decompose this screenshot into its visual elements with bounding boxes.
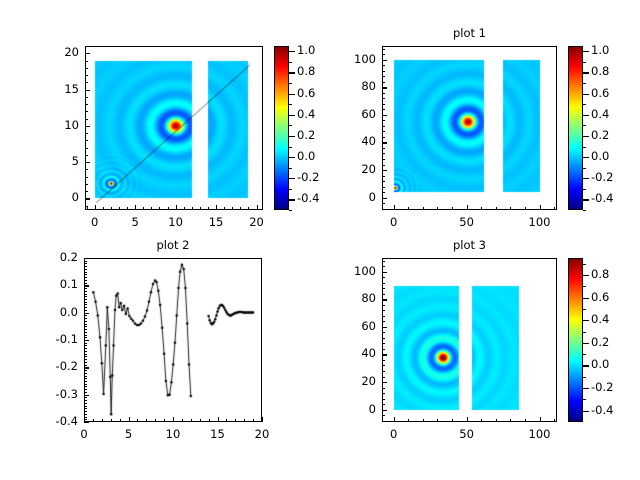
- y-minor-tick: [84, 384, 87, 385]
- colorbar-tick-label: 1.0: [591, 43, 609, 57]
- x-minor-tick: [510, 419, 511, 422]
- y-minor-tick: [84, 351, 87, 352]
- y-minor-tick: [382, 310, 385, 311]
- x-minor-tick: [182, 419, 183, 422]
- plot-title-top-right: plot 1: [382, 26, 557, 40]
- x-minor-tick: [235, 419, 236, 422]
- y-minor-tick: [85, 61, 88, 62]
- y-major-tick: [382, 272, 387, 273]
- y-minor-tick: [84, 406, 87, 407]
- colorbar-minor-tick: [289, 83, 292, 84]
- colorbar-tick: [583, 115, 589, 116]
- y-major-tick: [382, 327, 387, 328]
- y-minor-tick: [382, 109, 385, 110]
- colorbar-tick: [289, 157, 295, 158]
- colorbar-minor-tick: [583, 264, 586, 265]
- x-minor-tick: [452, 207, 453, 210]
- colorbar-tick-label: -0.4: [591, 191, 613, 205]
- colorbar-tick-label: 0.8: [591, 64, 609, 78]
- y-minor-tick: [382, 54, 385, 55]
- y-minor-tick: [85, 97, 88, 98]
- colorbar-frame-top-left: [274, 46, 289, 210]
- colorbar-minor-tick: [583, 309, 586, 310]
- x-minor-tick: [240, 207, 241, 210]
- y-tick-label: -0.4: [36, 414, 78, 428]
- y-minor-tick: [84, 389, 87, 390]
- y-tick-label: 15: [37, 82, 79, 96]
- x-minor-tick: [510, 207, 511, 210]
- y-minor-tick: [382, 343, 385, 344]
- colorbar-minor-tick: [583, 125, 586, 126]
- colorbar-tick: [583, 411, 589, 412]
- x-minor-tick: [155, 419, 156, 422]
- y-minor-tick: [84, 294, 87, 295]
- y-minor-tick: [382, 148, 385, 149]
- x-major-tick: [95, 205, 96, 210]
- y-major-tick: [382, 115, 387, 116]
- x-tick-label: 100: [518, 427, 562, 441]
- y-minor-tick: [85, 82, 88, 83]
- colorbar-tick-label: -0.4: [591, 403, 613, 417]
- y-minor-tick: [84, 373, 87, 374]
- y-minor-tick: [84, 269, 87, 270]
- colorbar-minor-tick: [583, 168, 586, 169]
- y-minor-tick: [84, 302, 87, 303]
- x-tick-label: 0: [372, 215, 416, 229]
- x-major-tick: [394, 205, 395, 210]
- y-major-tick: [382, 142, 387, 143]
- y-tick-label: 0: [334, 402, 376, 416]
- y-minor-tick: [84, 392, 87, 393]
- y-tick-label: 0: [334, 190, 376, 204]
- y-minor-tick: [85, 140, 88, 141]
- y-minor-tick: [84, 381, 87, 382]
- y-minor-tick: [84, 291, 87, 292]
- colorbar-tick: [289, 178, 295, 179]
- colorbar-tick-label: 0.6: [591, 290, 609, 304]
- colorbar-tick-label: -0.2: [591, 170, 613, 184]
- x-minor-tick: [481, 419, 482, 422]
- x-tick-label: 15: [196, 427, 240, 441]
- y-minor-tick: [382, 104, 385, 105]
- x-minor-tick: [87, 207, 88, 210]
- x-minor-tick: [408, 419, 409, 422]
- x-minor-tick: [423, 419, 424, 422]
- y-minor-tick: [382, 192, 385, 193]
- x-minor-tick: [168, 207, 169, 210]
- y-tick-label: 60: [334, 107, 376, 121]
- y-major-tick: [84, 367, 89, 368]
- colorbar-tick: [289, 72, 295, 73]
- colorbar-tick: [289, 136, 295, 137]
- y-minor-tick: [85, 206, 88, 207]
- y-minor-tick: [84, 307, 87, 308]
- y-minor-tick: [382, 49, 385, 50]
- plot-area-top-right: [382, 46, 557, 210]
- x-major-tick: [540, 417, 541, 422]
- y-major-tick: [84, 285, 89, 286]
- y-minor-tick: [382, 76, 385, 77]
- colorbar-tick-label: 0.2: [297, 128, 315, 142]
- colorbar-minor-tick: [289, 104, 292, 105]
- y-minor-tick: [85, 169, 88, 170]
- x-minor-tick: [554, 207, 555, 210]
- x-tick-label: 20: [235, 215, 279, 229]
- y-tick-label: 0.0: [36, 305, 78, 319]
- colorbar-tick: [289, 115, 295, 116]
- x-minor-tick: [208, 207, 209, 210]
- y-minor-tick: [84, 397, 87, 398]
- colorbar-tick-label: 0.0: [591, 149, 609, 163]
- colorbar-minor-tick: [583, 399, 586, 400]
- y-major-tick: [84, 395, 89, 396]
- y-minor-tick: [84, 321, 87, 322]
- colorbar-minor-tick: [583, 354, 586, 355]
- x-major-tick: [467, 417, 468, 422]
- colorbar-tick-label: -0.2: [591, 380, 613, 394]
- y-minor-tick: [382, 93, 385, 94]
- y-minor-tick: [85, 46, 88, 47]
- x-major-tick: [176, 205, 177, 210]
- x-tick-label: 50: [445, 427, 489, 441]
- y-minor-tick: [84, 329, 87, 330]
- y-minor-tick: [84, 266, 87, 267]
- y-minor-tick: [84, 348, 87, 349]
- y-major-tick: [85, 53, 90, 54]
- y-minor-tick: [382, 388, 385, 389]
- colorbar-tick: [583, 51, 589, 52]
- colorbar-tick-label: 0.6: [591, 86, 609, 100]
- y-minor-tick: [84, 318, 87, 319]
- y-minor-tick: [84, 362, 87, 363]
- y-minor-tick: [382, 349, 385, 350]
- colorbar-minor-tick: [583, 83, 586, 84]
- x-minor-tick: [159, 207, 160, 210]
- x-major-tick: [257, 205, 258, 210]
- y-minor-tick: [382, 203, 385, 204]
- x-minor-tick: [93, 419, 94, 422]
- y-tick-label: 0.2: [36, 250, 78, 264]
- x-minor-tick: [184, 207, 185, 210]
- y-minor-tick: [84, 403, 87, 404]
- colorbar-minor-tick: [289, 210, 292, 211]
- y-minor-tick: [382, 209, 385, 210]
- x-minor-tick: [119, 207, 120, 210]
- y-minor-tick: [382, 181, 385, 182]
- y-minor-tick: [84, 345, 87, 346]
- colorbar-minor-tick: [583, 147, 586, 148]
- y-minor-tick: [84, 310, 87, 311]
- y-tick-label: 0.1: [36, 277, 78, 291]
- y-minor-tick: [382, 294, 385, 295]
- colorbar-tick-label: 0.4: [297, 107, 315, 121]
- y-minor-tick: [382, 159, 385, 160]
- x-minor-tick: [151, 207, 152, 210]
- colorbar-tick-label: 0.0: [297, 149, 315, 163]
- x-minor-tick: [111, 419, 112, 422]
- y-minor-tick: [85, 111, 88, 112]
- x-minor-tick: [102, 419, 103, 422]
- x-minor-tick: [525, 207, 526, 210]
- y-minor-tick: [382, 71, 385, 72]
- x-minor-tick: [209, 419, 210, 422]
- colorbar-tick: [583, 320, 589, 321]
- colorbar-tick: [583, 136, 589, 137]
- colorbar-frame-top-right: [568, 46, 583, 210]
- y-tick-label: 20: [334, 374, 376, 388]
- y-minor-tick: [382, 321, 385, 322]
- colorbar-tick: [583, 72, 589, 73]
- y-minor-tick: [84, 337, 87, 338]
- y-minor-tick: [84, 283, 87, 284]
- y-minor-tick: [84, 274, 87, 275]
- y-tick-label: 40: [334, 134, 376, 148]
- y-minor-tick: [84, 365, 87, 366]
- colorbar-tick: [583, 388, 589, 389]
- y-minor-tick: [85, 104, 88, 105]
- y-tick-label: 100: [334, 264, 376, 278]
- y-minor-tick: [84, 343, 87, 344]
- y-minor-tick: [84, 296, 87, 297]
- figure-canvas: 05101520051015201.00.80.60.40.20.0-0.2-0…: [0, 0, 640, 480]
- y-minor-tick: [85, 68, 88, 69]
- x-tick-label: 0: [62, 427, 106, 441]
- colorbar-tick: [289, 51, 295, 52]
- y-major-tick: [382, 354, 387, 355]
- y-minor-tick: [382, 187, 385, 188]
- x-tick-label: 50: [445, 215, 489, 229]
- y-minor-tick: [85, 155, 88, 156]
- x-minor-tick: [200, 207, 201, 210]
- y-minor-tick: [382, 399, 385, 400]
- x-minor-tick: [200, 419, 201, 422]
- y-minor-tick: [382, 153, 385, 154]
- y-minor-tick: [84, 376, 87, 377]
- y-tick-label: 100: [334, 52, 376, 66]
- x-major-tick: [262, 417, 263, 422]
- y-minor-tick: [84, 315, 87, 316]
- plot-title-bottom-left: plot 2: [84, 238, 262, 252]
- y-minor-tick: [382, 126, 385, 127]
- x-minor-tick: [111, 207, 112, 210]
- colorbar-minor-tick: [289, 147, 292, 148]
- y-minor-tick: [84, 408, 87, 409]
- y-minor-tick: [84, 272, 87, 273]
- y-major-tick: [84, 422, 89, 423]
- y-minor-tick: [84, 354, 87, 355]
- y-minor-tick: [84, 277, 87, 278]
- x-tick-label: 5: [113, 215, 157, 229]
- y-minor-tick: [382, 176, 385, 177]
- x-major-tick: [216, 205, 217, 210]
- y-minor-tick: [84, 378, 87, 379]
- y-minor-tick: [84, 280, 87, 281]
- y-tick-label: 40: [334, 346, 376, 360]
- colorbar-tick-label: 0.4: [591, 312, 609, 326]
- y-tick-label: -0.2: [36, 359, 78, 373]
- y-minor-tick: [85, 148, 88, 149]
- y-minor-tick: [84, 261, 87, 262]
- y-minor-tick: [85, 184, 88, 185]
- colorbar-minor-tick: [583, 377, 586, 378]
- y-minor-tick: [84, 288, 87, 289]
- colorbar-tick-label: 1.0: [297, 43, 315, 57]
- x-minor-tick: [232, 207, 233, 210]
- y-major-tick: [84, 313, 89, 314]
- y-minor-tick: [382, 98, 385, 99]
- y-minor-tick: [84, 332, 87, 333]
- y-minor-tick: [382, 316, 385, 317]
- x-tick-label: 100: [518, 215, 562, 229]
- y-minor-tick: [382, 421, 385, 422]
- y-minor-tick: [382, 283, 385, 284]
- x-minor-tick: [164, 419, 165, 422]
- y-minor-tick: [382, 371, 385, 372]
- y-minor-tick: [382, 137, 385, 138]
- y-minor-tick: [382, 305, 385, 306]
- x-minor-tick: [226, 419, 227, 422]
- y-minor-tick: [382, 377, 385, 378]
- y-minor-tick: [84, 400, 87, 401]
- y-major-tick: [84, 340, 89, 341]
- y-major-tick: [84, 258, 89, 259]
- y-minor-tick: [382, 261, 385, 262]
- y-minor-tick: [84, 414, 87, 415]
- y-tick-label: 5: [37, 154, 79, 168]
- colorbar-minor-tick: [583, 62, 586, 63]
- colorbar-tick: [583, 199, 589, 200]
- y-minor-tick: [382, 404, 385, 405]
- x-minor-tick: [143, 207, 144, 210]
- colorbar-tick: [583, 178, 589, 179]
- colorbar-tick: [583, 365, 589, 366]
- y-minor-tick: [84, 299, 87, 300]
- y-minor-tick: [382, 415, 385, 416]
- y-minor-tick: [382, 65, 385, 66]
- x-minor-tick: [137, 419, 138, 422]
- y-minor-tick: [382, 338, 385, 339]
- y-minor-tick: [84, 359, 87, 360]
- y-minor-tick: [84, 304, 87, 305]
- colorbar-minor-tick: [289, 62, 292, 63]
- x-minor-tick: [248, 207, 249, 210]
- y-minor-tick: [382, 288, 385, 289]
- y-tick-label: -0.3: [36, 387, 78, 401]
- x-tick-label: 15: [194, 215, 238, 229]
- y-minor-tick: [85, 191, 88, 192]
- y-minor-tick: [382, 82, 385, 83]
- colorbar-tick-label: 0.6: [297, 86, 315, 100]
- y-minor-tick: [84, 386, 87, 387]
- y-tick-label: 80: [334, 291, 376, 305]
- y-tick-label: 10: [37, 118, 79, 132]
- y-tick-label: 20: [334, 162, 376, 176]
- colorbar-tick: [583, 275, 589, 276]
- x-major-tick: [218, 417, 219, 422]
- colorbar-minor-tick: [583, 332, 586, 333]
- colorbar-tick-label: 0.2: [591, 128, 609, 142]
- colorbar-tick: [583, 343, 589, 344]
- y-major-tick: [382, 198, 387, 199]
- colorbar-minor-tick: [583, 286, 586, 287]
- colorbar-tick-label: -0.4: [297, 191, 319, 205]
- y-minor-tick: [84, 326, 87, 327]
- y-major-tick: [382, 87, 387, 88]
- x-major-tick: [467, 205, 468, 210]
- x-minor-tick: [146, 419, 147, 422]
- y-minor-tick: [382, 393, 385, 394]
- plot-area-top-left: [85, 46, 263, 210]
- y-tick-label: 60: [334, 319, 376, 333]
- colorbar-tick: [583, 94, 589, 95]
- x-minor-tick: [120, 419, 121, 422]
- x-minor-tick: [244, 419, 245, 422]
- colorbar-tick: [289, 199, 295, 200]
- colorbar-tick: [583, 157, 589, 158]
- x-major-tick: [540, 205, 541, 210]
- x-major-tick: [394, 417, 395, 422]
- colorbar-tick: [583, 298, 589, 299]
- colorbar-minor-tick: [583, 104, 586, 105]
- y-major-tick: [382, 410, 387, 411]
- y-minor-tick: [85, 119, 88, 120]
- y-major-tick: [85, 162, 90, 163]
- y-minor-tick: [84, 356, 87, 357]
- x-minor-tick: [423, 207, 424, 210]
- x-minor-tick: [103, 207, 104, 210]
- y-tick-label: 0: [37, 190, 79, 204]
- y-minor-tick: [382, 266, 385, 267]
- y-minor-tick: [85, 177, 88, 178]
- x-major-tick: [129, 417, 130, 422]
- y-major-tick: [382, 299, 387, 300]
- x-major-tick: [135, 205, 136, 210]
- x-tick-label: 10: [151, 427, 195, 441]
- y-minor-tick: [85, 133, 88, 134]
- x-minor-tick: [127, 207, 128, 210]
- colorbar-tick-label: 0.8: [591, 267, 609, 281]
- colorbar-tick-label: 0.0: [591, 357, 609, 371]
- y-minor-tick: [382, 120, 385, 121]
- x-minor-tick: [525, 419, 526, 422]
- colorbar-minor-tick: [289, 189, 292, 190]
- colorbar-frame-bottom-right: [568, 258, 583, 422]
- x-minor-tick: [192, 207, 193, 210]
- y-major-tick: [382, 60, 387, 61]
- x-minor-tick: [408, 207, 409, 210]
- colorbar-minor-tick: [289, 125, 292, 126]
- colorbar-tick-label: 0.4: [591, 107, 609, 121]
- plot-area-bottom-left: [84, 258, 262, 422]
- plot-title-bottom-right: plot 3: [382, 238, 557, 252]
- y-minor-tick: [382, 277, 385, 278]
- x-tick-label: 5: [107, 427, 151, 441]
- y-minor-tick: [382, 131, 385, 132]
- colorbar-minor-tick: [583, 189, 586, 190]
- x-minor-tick: [496, 207, 497, 210]
- y-minor-tick: [84, 335, 87, 336]
- y-major-tick: [85, 90, 90, 91]
- x-minor-tick: [253, 419, 254, 422]
- x-minor-tick: [496, 419, 497, 422]
- x-minor-tick: [191, 419, 192, 422]
- colorbar-tick-label: -0.2: [297, 170, 319, 184]
- y-minor-tick: [84, 263, 87, 264]
- x-minor-tick: [437, 207, 438, 210]
- y-minor-tick: [84, 370, 87, 371]
- x-minor-tick: [224, 207, 225, 210]
- plot-area-bottom-right: [382, 258, 557, 422]
